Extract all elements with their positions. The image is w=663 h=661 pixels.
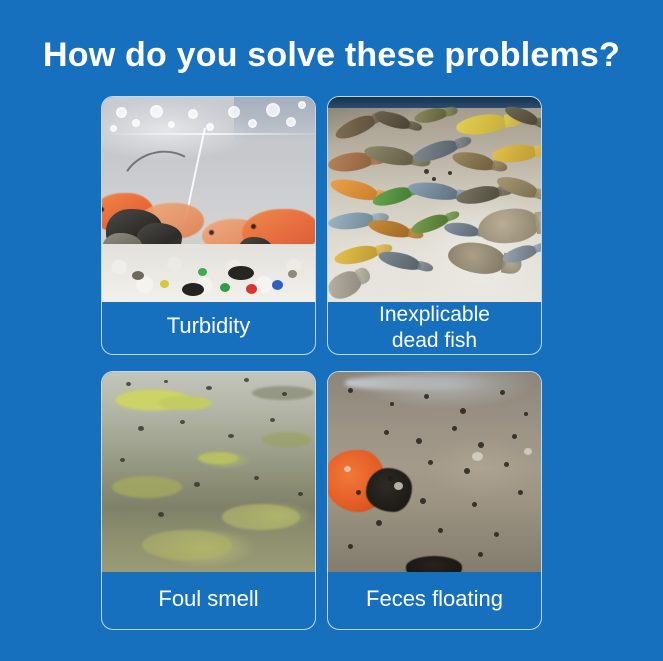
- bubble-icon: [132, 119, 140, 127]
- dead-fish-shape: [451, 149, 497, 174]
- page-title: How do you solve these problems?: [0, 34, 663, 76]
- dead-fish-shape: [373, 108, 413, 132]
- water-line: [102, 133, 315, 135]
- bubble-icon: [472, 452, 483, 461]
- poster-root: How do you solve these problems?: [0, 0, 663, 661]
- bubble-icon: [188, 109, 198, 119]
- debris-speck: [432, 177, 436, 181]
- fish-eye: [102, 207, 104, 212]
- dead-fish-shape: [446, 238, 508, 278]
- photo-turbid-aquarium: [102, 97, 315, 302]
- bubble-icon: [344, 466, 351, 472]
- feces-particle: [460, 408, 466, 414]
- dead-fish-shape: [491, 143, 539, 165]
- pebble: [246, 284, 257, 294]
- debris-speck: [126, 382, 131, 386]
- debris-speck: [298, 492, 303, 496]
- feces-particle: [464, 468, 470, 474]
- card-label-line1: Inexplicable: [379, 303, 490, 326]
- problem-card-turbidity[interactable]: Turbidity: [101, 96, 316, 355]
- debris-speck: [180, 420, 185, 424]
- debris-speck: [424, 169, 429, 174]
- photo-dead-fish: [328, 97, 541, 302]
- dead-fish-shape: [333, 242, 381, 267]
- pebble: [132, 271, 144, 280]
- feces-particle: [524, 412, 528, 416]
- dead-fish-shape: [407, 179, 461, 202]
- debris-speck: [138, 426, 144, 431]
- feces-particle: [388, 476, 393, 481]
- fish-eye: [251, 224, 256, 229]
- feces-particle: [348, 388, 353, 393]
- feces-particle: [512, 434, 517, 439]
- algae-patch: [158, 396, 212, 410]
- bubble-icon: [168, 121, 175, 128]
- card-label-feces-floating: Feces floating: [328, 572, 541, 629]
- feces-particle: [478, 552, 483, 557]
- bubble-icon: [116, 107, 127, 118]
- fish-shape: [366, 468, 412, 512]
- algae-patch: [142, 530, 232, 560]
- feces-particle: [472, 502, 477, 507]
- debris-speck: [254, 476, 259, 480]
- bubble-icon: [248, 119, 257, 128]
- feces-particle: [424, 394, 429, 399]
- feces-particle: [416, 438, 422, 444]
- dead-fish-shape: [413, 106, 449, 126]
- feces-particle: [438, 528, 443, 533]
- feces-particle: [494, 532, 499, 537]
- debris-speck: [448, 171, 452, 175]
- dead-fish-shape: [328, 266, 366, 302]
- bubble-icon: [110, 125, 117, 132]
- dead-fish-shape: [476, 206, 541, 246]
- algae-patch: [262, 432, 312, 448]
- algae-patch: [198, 452, 238, 464]
- pebble: [182, 283, 204, 296]
- feces-particle: [376, 520, 382, 526]
- feces-particle: [518, 490, 523, 495]
- dead-fish-shape: [367, 217, 413, 241]
- feces-particle: [420, 498, 426, 504]
- dead-fish-shape: [495, 173, 541, 202]
- dead-fish-shape: [455, 183, 503, 207]
- card-label-turbidity: Turbidity: [102, 302, 315, 354]
- bubble-icon: [150, 105, 163, 118]
- feces-particle: [500, 390, 505, 395]
- feces-particle: [384, 430, 389, 435]
- card-label-foul-smell: Foul smell: [102, 572, 315, 629]
- bubble-icon: [298, 101, 306, 109]
- algae-patch: [112, 476, 182, 498]
- feces-particle: [348, 544, 353, 549]
- dead-fish-shape: [455, 111, 509, 137]
- dead-fish-shape: [443, 221, 480, 239]
- debris-speck: [164, 380, 168, 383]
- feces-particle: [478, 442, 484, 448]
- dead-fish-shape: [411, 136, 462, 166]
- bubble-icon: [266, 103, 280, 117]
- debris-speck: [244, 378, 249, 382]
- feces-particle: [504, 462, 509, 467]
- dead-fish-shape: [377, 248, 423, 273]
- debris-speck: [194, 482, 200, 487]
- bubble-icon: [394, 482, 403, 490]
- fish-eye: [209, 230, 214, 235]
- debris-speck: [228, 434, 234, 438]
- dead-fish-shape: [333, 111, 380, 144]
- algae-patch: [222, 504, 300, 530]
- pebble: [160, 280, 169, 288]
- feces-particle: [390, 402, 394, 406]
- debris-speck: [282, 392, 287, 396]
- debris-speck: [158, 512, 164, 517]
- pebble: [220, 283, 230, 292]
- feces-particle: [452, 426, 457, 431]
- pebble: [288, 270, 297, 278]
- pebble: [198, 268, 207, 276]
- bubble-icon: [228, 106, 240, 118]
- debris-speck: [270, 418, 275, 422]
- problem-card-feces-floating[interactable]: Feces floating: [327, 371, 542, 630]
- pebble: [272, 280, 283, 290]
- bubble-icon: [286, 117, 296, 127]
- debris-blob: [406, 556, 462, 572]
- water-glare: [345, 376, 498, 390]
- card-label-line2: dead fish: [392, 329, 477, 352]
- photo-feces-water: [328, 372, 541, 572]
- feces-particle: [356, 490, 361, 495]
- bubble-icon: [524, 448, 532, 455]
- bubble-icon: [206, 123, 214, 131]
- problem-card-dead-fish[interactable]: Inexplicable dead fish: [327, 96, 542, 355]
- debris-speck: [120, 458, 125, 462]
- feces-particle: [428, 460, 433, 465]
- problem-card-grid: Turbidity: [101, 96, 542, 630]
- photo-foul-water: [102, 372, 315, 572]
- problem-card-foul-smell[interactable]: Foul smell: [101, 371, 316, 630]
- debris-speck: [206, 386, 212, 390]
- card-label-dead-fish: Inexplicable dead fish: [328, 302, 541, 355]
- pebble: [228, 266, 254, 280]
